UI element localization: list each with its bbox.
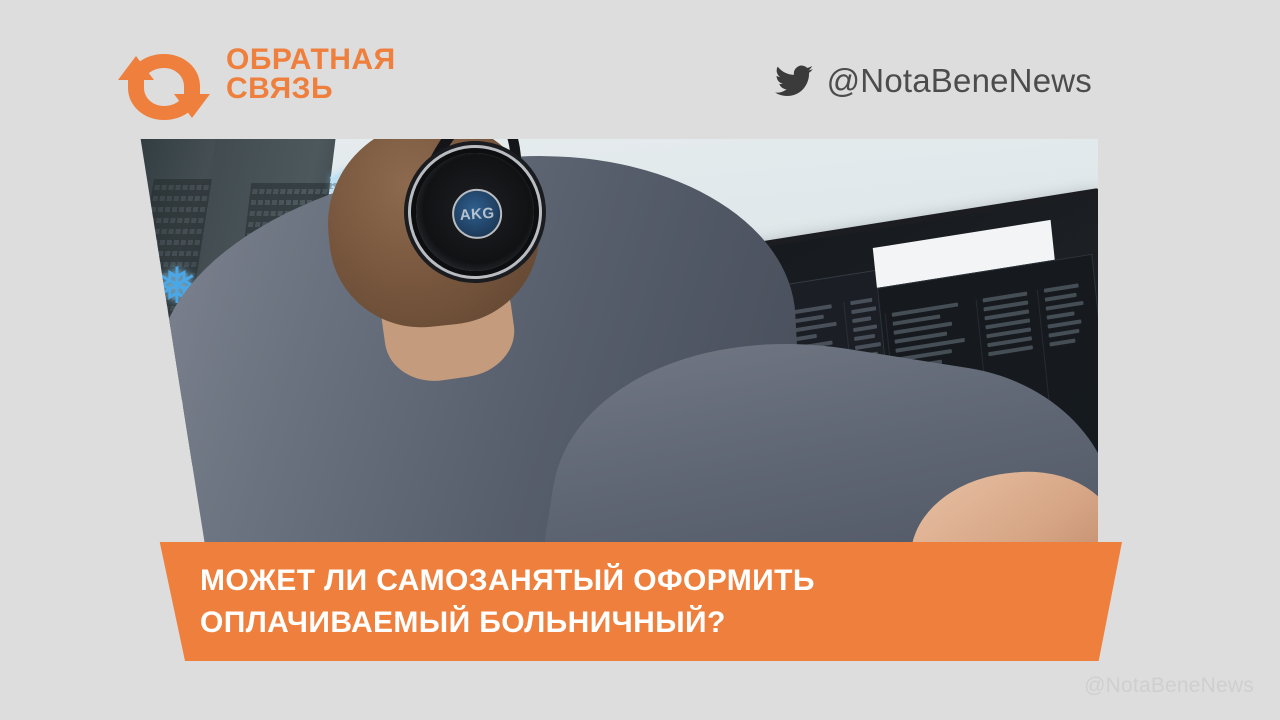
headline-line-1: МОЖЕТ ЛИ САМОЗАНЯТЫЙ ОФОРМИТЬ (200, 560, 815, 601)
headphone-brand-text: AKG (459, 204, 495, 223)
brand-line-1: ОБРАТНАЯ (226, 46, 426, 75)
social-handle-text: @NotaBeneNews (827, 62, 1092, 100)
broadcast-graphic-slide: ОБРАТНАЯ СВЯЗЬ @NotaBeneNews ❄ ❅ (0, 0, 1280, 720)
twitter-bird-icon (775, 65, 813, 97)
brand-line-2: СВЯЗЬ (226, 75, 426, 104)
headphone-brand-logo: AKG (450, 187, 503, 240)
brand-wordmark: ОБРАТНАЯ СВЯЗЬ (226, 46, 426, 103)
explorer-rows (983, 291, 1039, 362)
social-handle-block: @NotaBeneNews (775, 62, 1092, 100)
explorer-rows (1044, 282, 1094, 352)
circular-arrows-icon (118, 48, 210, 126)
corner-watermark: @NotaBeneNews (1084, 674, 1254, 698)
brand-block: ОБРАТНАЯ СВЯЗЬ (118, 44, 418, 130)
photo-scene: ❄ ❅ (128, 139, 1098, 549)
headline-text: МОЖЕТ ЛИ САМОЗАНЯТЫЙ ОФОРМИТЬ ОПЛАЧИВАЕМ… (200, 560, 815, 643)
headline-line-2: ОПЛАЧИВАЕМЫЙ БОЛЬНИЧНЫЙ? (200, 602, 815, 643)
headline-banner: МОЖЕТ ЛИ САМОЗАНЯТЫЙ ОФОРМИТЬ ОПЛАЧИВАЕМ… (150, 542, 1122, 661)
hero-photo: ❄ ❅ (128, 139, 1098, 549)
